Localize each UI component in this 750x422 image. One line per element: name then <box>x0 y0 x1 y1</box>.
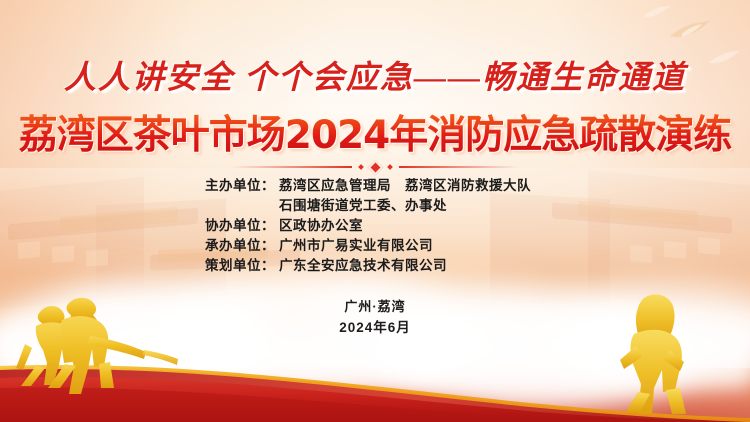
organizer-value: 荔湾区应急管理局 荔湾区消防救援大队 <box>279 176 531 196</box>
divider-dot <box>387 164 393 170</box>
organizer-value: 石围塘街道党工委、办事处 <box>279 196 447 216</box>
divider-dot <box>358 164 364 170</box>
divider-line-left <box>232 166 352 167</box>
organizer-value: 区政协办公室 <box>279 216 363 236</box>
divider-diamond-icon <box>367 159 383 175</box>
organizer-label: 主办单位： <box>205 176 279 196</box>
poster-canvas: 人人讲安全 个个会应急——畅通生命通道 荔湾区茶叶市场2024年消防应急疏散演练… <box>0 0 750 422</box>
organizer-list: 主办单位： 荔湾区应急管理局 荔湾区消防救援大队 石围塘街道党工委、办事处 协办… <box>0 176 750 276</box>
divider-line-right <box>399 166 519 167</box>
page-title: 荔湾区茶叶市场2024年消防应急疏散演练 <box>0 104 750 160</box>
organizer-row: 石围塘街道党工委、办事处 <box>0 196 750 216</box>
organizer-value: 广州市广易实业有限公司 <box>279 236 433 256</box>
organizer-value: 广东全安应急技术有限公司 <box>279 256 447 276</box>
divider-ornament <box>0 160 750 174</box>
organizer-row: 策划单位： 广东全安应急技术有限公司 <box>0 256 750 276</box>
event-place-and-date: 广州·荔湾 2024年6月 <box>0 296 750 338</box>
organizer-label: 协办单位： <box>205 216 279 236</box>
organizer-row: 协办单位： 区政协办公室 <box>0 216 750 236</box>
organizer-label: 策划单位： <box>205 256 279 276</box>
event-date: 2024年6月 <box>0 317 750 338</box>
slogan-text: 人人讲安全 个个会应急——畅通生命通道 <box>0 52 750 98</box>
poster-content: 人人讲安全 个个会应急——畅通生命通道 荔湾区茶叶市场2024年消防应急疏散演练… <box>0 0 750 422</box>
organizer-row: 承办单位： 广州市广易实业有限公司 <box>0 236 750 256</box>
organizer-label: 承办单位： <box>205 236 279 256</box>
event-place: 广州·荔湾 <box>0 296 750 317</box>
organizer-row: 主办单位： 荔湾区应急管理局 荔湾区消防救援大队 <box>0 176 750 196</box>
